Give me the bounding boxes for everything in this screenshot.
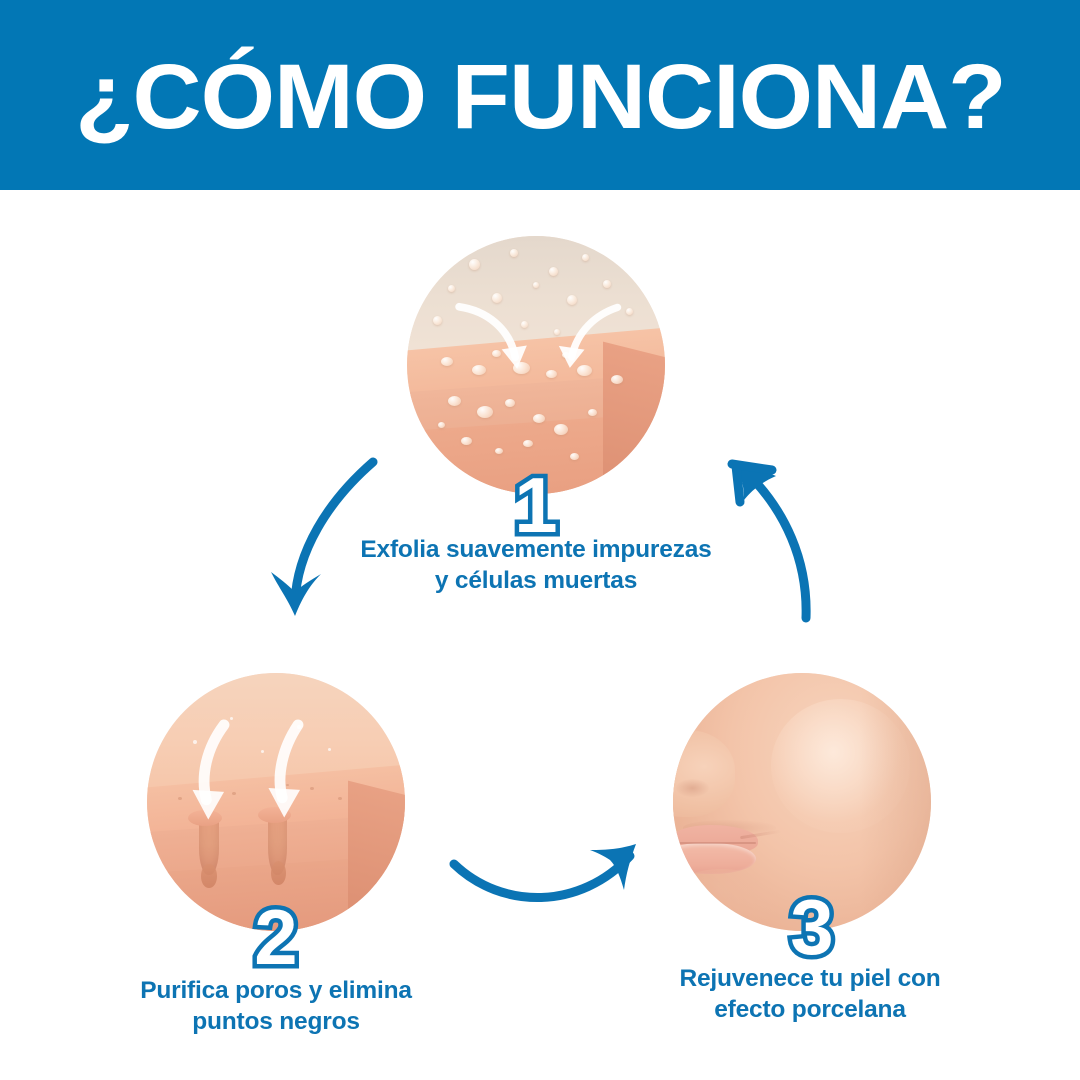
header-band: ¿CÓMO FUNCIONA?	[0, 0, 1080, 190]
arrow-step1-to-step2	[255, 440, 405, 640]
page-title: ¿CÓMO FUNCIONA?	[75, 51, 1005, 143]
arrow-step3-to-step1	[710, 440, 860, 640]
step-1-image	[407, 236, 665, 494]
step-3-caption: Rejuvenece tu piel con efecto porcelana	[630, 963, 990, 1026]
step-2-caption: Purifica poros y elimina puntos negros	[86, 975, 466, 1038]
pore-cleaning-arrow-right-icon	[255, 719, 327, 827]
step-1-number: 1	[486, 466, 586, 544]
exfoliation-arrow-left-icon	[453, 301, 541, 378]
infographic-canvas: ¿CÓMO FUNCIONA?	[0, 0, 1080, 1080]
arrow-step2-to-step3	[440, 828, 660, 923]
exfoliation-arrow-right-icon	[546, 303, 629, 378]
step-2-number: 2	[226, 898, 326, 976]
step-3-number: 3	[762, 888, 862, 966]
pore-cleaning-arrow-left-icon	[183, 719, 255, 827]
